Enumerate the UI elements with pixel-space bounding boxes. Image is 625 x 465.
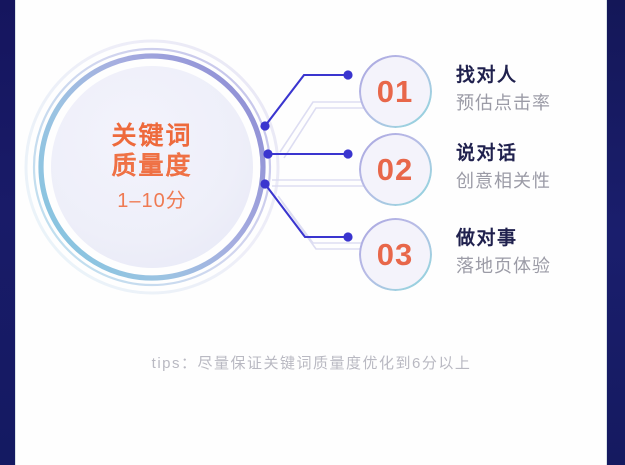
connector-dot-outer-1: [343, 70, 352, 79]
content-stage: 关键词 质量度 1–10分 01 找对人 预估点击率 02 说对话 创意相关性: [16, 0, 607, 465]
number-badge: 03: [360, 219, 430, 289]
list-item[interactable]: 02 说对话 创意相关性: [360, 134, 610, 206]
connector-dot-inner-3: [260, 179, 269, 188]
center-disc: [51, 66, 253, 268]
connector-dot-group: [260, 70, 352, 241]
number-badge-label: 03: [377, 239, 413, 270]
item-title: 说对话: [456, 140, 625, 168]
number-badge-label: 01: [377, 76, 413, 107]
item-subtitle: 创意相关性: [456, 168, 625, 194]
left-navy-bar: [0, 0, 15, 465]
number-badge: 01: [360, 56, 430, 126]
connector-dot-inner-1: [260, 121, 269, 130]
center-circle-group: [26, 41, 278, 293]
item-copy: 找对人 预估点击率: [456, 62, 625, 116]
item-title: 做对事: [456, 225, 625, 253]
list-item[interactable]: 03 做对事 落地页体验: [360, 219, 610, 291]
ghost-trace-group: [272, 102, 368, 249]
item-subtitle: 预估点击率: [456, 90, 625, 116]
number-badge-label: 02: [377, 154, 413, 185]
connector-dot-outer-3: [343, 232, 352, 241]
tips-note: tips：尽量保证关键词质量度优化到6分以上: [16, 352, 607, 373]
infographic-poster: 关键词 质量度 1–10分 01 找对人 预估点击率 02 说对话 创意相关性: [0, 0, 625, 465]
item-subtitle: 落地页体验: [456, 253, 625, 279]
item-copy: 做对事 落地页体验: [456, 225, 625, 279]
connector-line-3: [265, 184, 348, 237]
connector-dot-inner-2: [263, 149, 272, 158]
list-item[interactable]: 01 找对人 预估点击率: [360, 56, 610, 128]
connector-line-1: [265, 75, 348, 126]
connector-dot-outer-2: [343, 149, 352, 158]
number-badge: 02: [360, 134, 430, 204]
item-copy: 说对话 创意相关性: [456, 140, 625, 194]
item-title: 找对人: [456, 62, 625, 90]
